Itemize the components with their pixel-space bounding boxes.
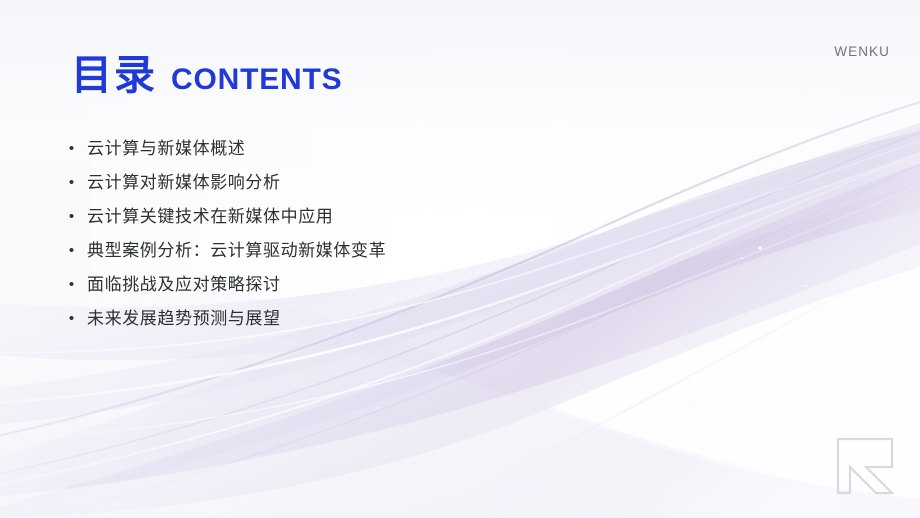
bullet-icon: • [68, 268, 75, 302]
list-item-label: 云计算对新媒体影响分析 [87, 166, 281, 200]
bullet-icon: • [68, 200, 75, 234]
arrow-corner-logo [836, 437, 894, 495]
list-item[interactable]: •云计算关键技术在新媒体中应用 [68, 200, 708, 234]
page-title-chinese: 目录 [71, 55, 157, 96]
list-item[interactable]: •面临挑战及应对策略探讨 [68, 268, 708, 302]
list-item-label: 面临挑战及应对策略探讨 [87, 268, 281, 302]
page-title: 目录 CONTENTS [71, 55, 342, 96]
list-item[interactable]: •云计算与新媒体概述 [68, 132, 708, 166]
slide-root: WENKU 目录 CONTENTS •云计算与新媒体概述•云计算对新媒体影响分析… [0, 0, 920, 518]
list-item-label: 云计算与新媒体概述 [87, 132, 245, 166]
list-item[interactable]: •典型案例分析：云计算驱动新媒体变革 [68, 234, 708, 268]
bullet-icon: • [68, 166, 75, 200]
list-item-label: 未来发展趋势预测与展望 [87, 302, 281, 336]
page-title-english: CONTENTS [171, 65, 342, 95]
list-item[interactable]: •云计算对新媒体影响分析 [68, 166, 708, 200]
list-item[interactable]: •未来发展趋势预测与展望 [68, 302, 708, 336]
bullet-icon: • [68, 302, 75, 336]
wenku-watermark: WENKU [834, 44, 890, 59]
table-of-contents: •云计算与新媒体概述•云计算对新媒体影响分析•云计算关键技术在新媒体中应用•典型… [68, 132, 708, 336]
list-item-label: 云计算关键技术在新媒体中应用 [87, 200, 333, 234]
bullet-icon: • [68, 234, 75, 268]
bullet-icon: • [68, 132, 75, 166]
list-item-label: 典型案例分析：云计算驱动新媒体变革 [87, 234, 386, 268]
